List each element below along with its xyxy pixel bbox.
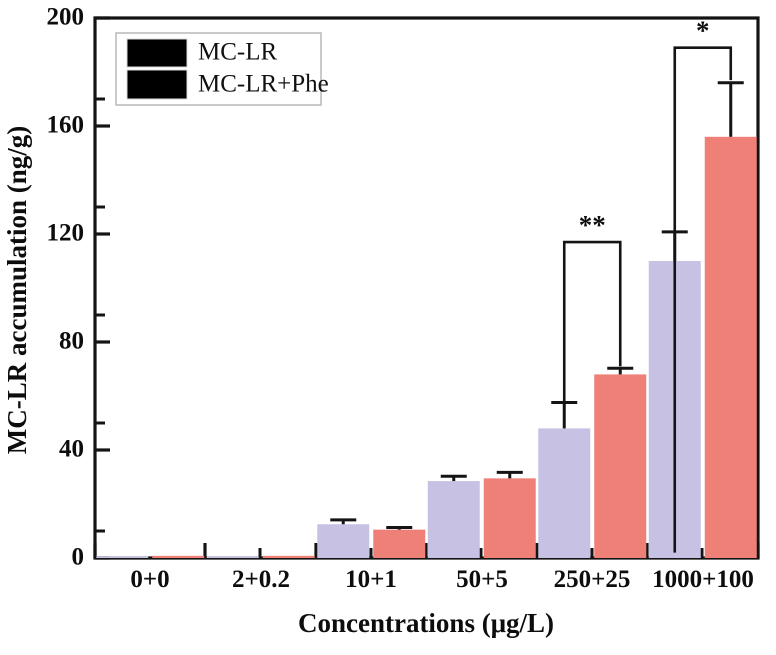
legend-label-mc-lr-phe: MC-LR+Phe (198, 71, 329, 98)
y-axis-title: MC-LR accumulation (ng/g) (2, 126, 32, 454)
bar-250-25-series1 (538, 428, 590, 558)
bar-0-0-series2 (152, 556, 204, 558)
bar-50-5-series2 (484, 478, 536, 558)
x-axis-title: Concentrations (μg/L) (298, 608, 554, 638)
bar-50-5-series1 (428, 481, 480, 558)
bars-layer (96, 137, 757, 558)
x-axis-tick-labels: 0+0 2+0.2 10+1 50+5 250+25 1000+100 (130, 566, 754, 593)
y-tick-label-80: 80 (59, 328, 84, 355)
y-tick-label-200: 200 (47, 4, 85, 31)
y-tick-label-160: 160 (47, 112, 85, 139)
bar-1000-100-series2 (705, 137, 757, 558)
y-tick-label-120: 120 (47, 220, 85, 247)
y-axis-tick-labels: 200 160 120 80 40 0 (47, 4, 85, 571)
bar-10-1-series1 (317, 524, 369, 558)
x-tick-label-3: 50+5 (456, 566, 508, 593)
y-tick-label-40: 40 (59, 436, 84, 463)
x-tick-label-5: 1000+100 (652, 566, 754, 593)
bar-10-1-series2 (373, 530, 425, 558)
bar-250-25-series2 (594, 374, 646, 558)
legend: MC-LR MC-LR+Phe (116, 33, 329, 105)
legend-swatch-mc-lr (127, 39, 187, 67)
y-axis-ticks (95, 18, 110, 558)
x-tick-label-4: 250+25 (554, 566, 631, 593)
x-tick-label-2: 10+1 (345, 566, 397, 593)
x-tick-label-0: 0+0 (130, 566, 169, 593)
bar-0-0-series1 (96, 556, 148, 558)
bar-2-0-2-series1 (207, 556, 259, 558)
x-tick-label-1: 2+0.2 (232, 566, 290, 593)
legend-label-mc-lr: MC-LR (198, 39, 278, 66)
legend-swatch-mc-lr-phe (127, 70, 187, 99)
significance-star-250-25: ** (579, 210, 606, 240)
significance-star-1000-100: * (696, 16, 710, 46)
y-tick-label-0: 0 (72, 544, 85, 571)
bar-2-0-2-series2 (263, 556, 315, 558)
bar-chart: 200 160 120 80 40 0 *** 0+0 (0, 0, 776, 655)
chart-figure: 200 160 120 80 40 0 *** 0+0 (0, 0, 776, 655)
